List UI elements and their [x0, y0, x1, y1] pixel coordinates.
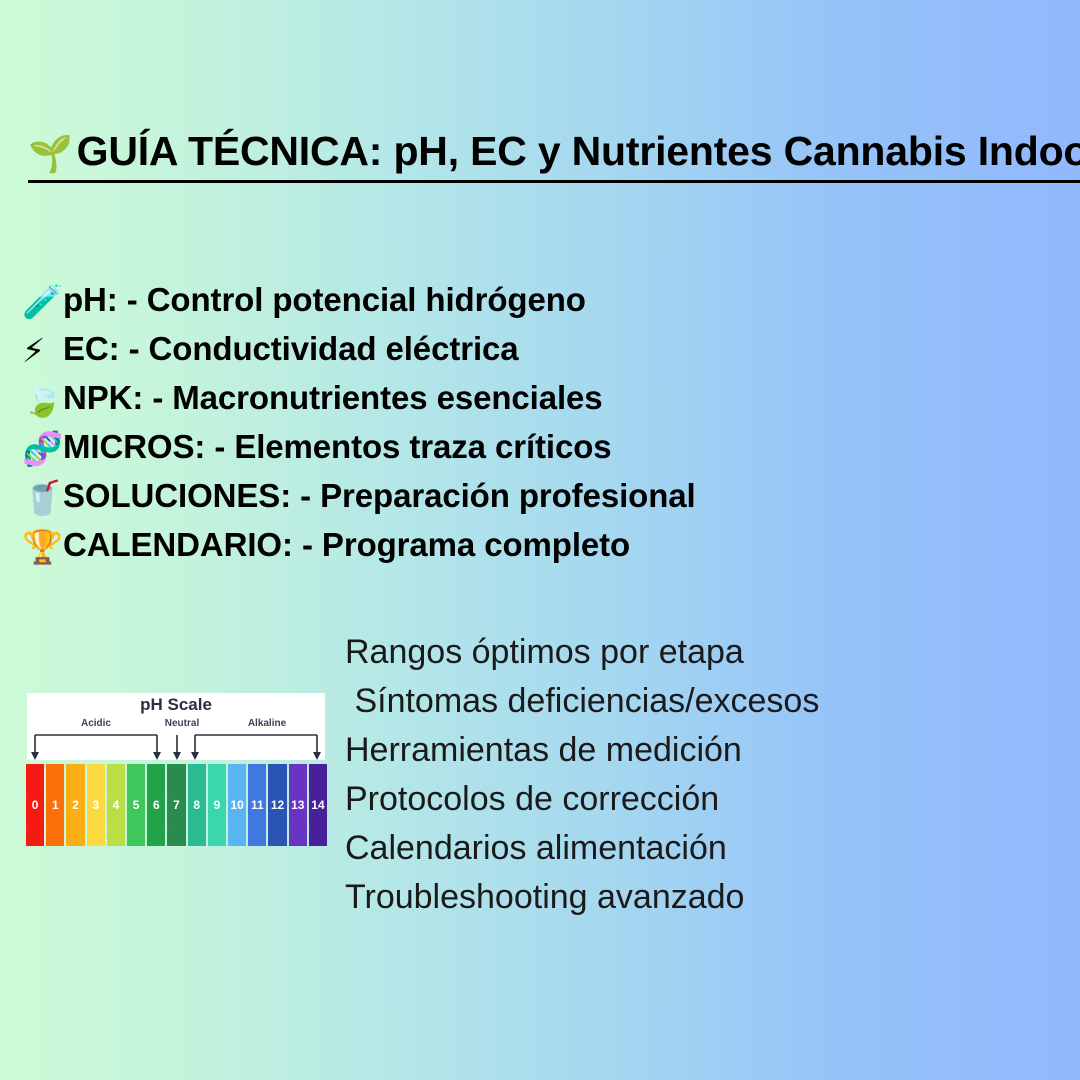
watermark-text: freepik [87, 790, 90, 806]
ph-bar-10: freepik 10 freepik [228, 764, 246, 846]
feature-label-ec: EC: - Conductividad eléctrica [63, 330, 519, 368]
watermark-text: freepik [66, 790, 69, 806]
feature-label-micros: MICROS: - Elementos traza críticos [63, 428, 612, 466]
ph-bar-label-9: 9 [214, 798, 221, 812]
watermark-text: freepik [208, 826, 211, 842]
ph-bar-label-7: 7 [173, 798, 180, 812]
watermark-text: freepik [87, 826, 90, 842]
ph-scale-title: pH Scale [27, 695, 325, 715]
feature-label-ph: pH: - Control potencial hidrógeno [63, 281, 586, 319]
feature-list: 🧪 pH: - Control potencial hidrógeno ⚡ EC… [22, 281, 882, 575]
ph-bar-label-8: 8 [193, 798, 200, 812]
watermark-text: freepik [188, 826, 191, 842]
ph-bar-7: freepik 7 freepik [167, 764, 185, 846]
watermark-text: freepik [127, 790, 130, 806]
watermark-text: freepik [26, 790, 29, 806]
benefit-item-sintomas: Síntomas deficiencias/excesos [345, 677, 1045, 726]
page-title-label: GUÍA TÉCNICA: pH, EC y Nutrientes Cannab… [77, 128, 1080, 174]
ph-bar-11: freepik 11 freepik [248, 764, 266, 846]
watermark-text: freepik [107, 826, 110, 842]
watermark-text: freepik [66, 826, 69, 842]
ph-scale-card: pH Scale Acidic Neutral Alkaline [27, 693, 325, 760]
ph-zone-label-acidic: Acidic [35, 718, 157, 729]
feature-item-soluciones: 🥤 SOLUCIONES: - Preparación profesional [22, 477, 882, 526]
watermark-text: freepik [167, 826, 170, 842]
benefit-item-troubleshooting: Troubleshooting avanzado [345, 873, 1045, 922]
benefit-item-protocolos: Protocolos de corrección [345, 775, 1045, 824]
poster-canvas: 🌱GUÍA TÉCNICA: pH, EC y Nutrientes Canna… [0, 0, 1080, 1080]
ph-bar-label-4: 4 [113, 798, 120, 812]
ph-bar-3: freepik 3 freepik [87, 764, 105, 846]
watermark-text: freepik [26, 826, 29, 842]
ph-bar-label-2: 2 [72, 798, 79, 812]
ph-bar-4: freepik 4 freepik [107, 764, 125, 846]
ph-bar-label-11: 11 [251, 798, 264, 812]
ph-scale-bars: freepik 0 freepik freepik 1 freepik free… [26, 764, 327, 846]
ph-zone-bracket-arrows [27, 731, 325, 761]
watermark-text: freepik [208, 790, 211, 806]
lightning-bolt-icon: ⚡ [22, 334, 63, 367]
ph-bar-label-13: 13 [291, 798, 304, 812]
feature-label-calendario: CALENDARIO: - Programa completo [63, 526, 630, 564]
watermark-text: freepik [147, 826, 150, 842]
ph-bar-13: freepik 13 freepik [289, 764, 307, 846]
watermark-text: freepik [248, 826, 251, 842]
feature-label-soluciones: SOLUCIONES: - Preparación profesional [63, 477, 696, 515]
dna-icon: 🧬 [22, 432, 63, 465]
ph-bar-1: freepik 1 freepik [46, 764, 64, 846]
ph-bar-12: freepik 12 freepik [268, 764, 286, 846]
benefit-item-herramientas: Herramientas de medición [345, 726, 1045, 775]
ph-bar-5: freepik 5 freepik [127, 764, 145, 846]
ph-bar-label-1: 1 [52, 798, 59, 812]
page-title-text: 🌱GUÍA TÉCNICA: pH, EC y Nutrientes Canna… [28, 126, 1080, 183]
watermark-text: freepik [228, 826, 231, 842]
watermark-text: freepik [127, 826, 130, 842]
feature-item-ph: 🧪 pH: - Control potencial hidrógeno [22, 281, 882, 330]
ph-bar-14: freepik 14 freepik [309, 764, 327, 846]
trophy-icon: 🏆 [22, 530, 63, 563]
ph-bar-6: freepik 6 freepik [147, 764, 165, 846]
ph-bar-label-5: 5 [133, 798, 140, 812]
page-title: 🌱GUÍA TÉCNICA: pH, EC y Nutrientes Canna… [28, 126, 1060, 188]
ph-zone-label-alkaline: Alkaline [209, 718, 325, 729]
watermark-text: freepik [268, 826, 271, 842]
feature-item-npk: 🍃 NPK: - Macronutrientes esenciales [22, 379, 882, 428]
benefit-list: Rangos óptimos por etapa Síntomas defici… [345, 628, 1045, 922]
watermark-text: freepik [46, 826, 49, 842]
watermark-text: freepik [167, 790, 170, 806]
cup-with-straw-icon: 🥤 [22, 481, 63, 514]
watermark-text: freepik [289, 826, 292, 842]
watermark-text: freepik [46, 790, 49, 806]
watermark-text: freepik [188, 790, 191, 806]
watermark-text: freepik [107, 790, 110, 806]
ph-bar-label-12: 12 [271, 798, 284, 812]
ph-bar-0: freepik 0 freepik [26, 764, 44, 846]
test-tube-icon: 🧪 [22, 285, 63, 318]
feature-label-npk: NPK: - Macronutrientes esenciales [63, 379, 603, 417]
ph-bar-label-14: 14 [311, 798, 324, 812]
benefit-item-calendarios: Calendarios alimentación [345, 824, 1045, 873]
ph-bar-label-3: 3 [92, 798, 99, 812]
feature-item-micros: 🧬 MICROS: - Elementos traza críticos [22, 428, 882, 477]
ph-bar-8: freepik 8 freepik [188, 764, 206, 846]
ph-bar-2: freepik 2 freepik [66, 764, 84, 846]
ph-bar-label-10: 10 [230, 798, 243, 812]
feature-item-ec: ⚡ EC: - Conductividad eléctrica [22, 330, 882, 379]
watermark-text: freepik [309, 826, 312, 842]
feature-item-calendario: 🏆 CALENDARIO: - Programa completo [22, 526, 882, 575]
ph-bar-9: freepik 9 freepik [208, 764, 226, 846]
benefit-item-rangos: Rangos óptimos por etapa [345, 628, 1045, 677]
seedling-icon: 🌱 [28, 134, 73, 175]
ph-bar-label-0: 0 [32, 798, 39, 812]
ph-zone-label-neutral: Neutral [151, 718, 213, 729]
leaf-fluttering-icon: 🍃 [22, 383, 63, 416]
watermark-text: freepik [147, 790, 150, 806]
ph-bar-label-6: 6 [153, 798, 160, 812]
